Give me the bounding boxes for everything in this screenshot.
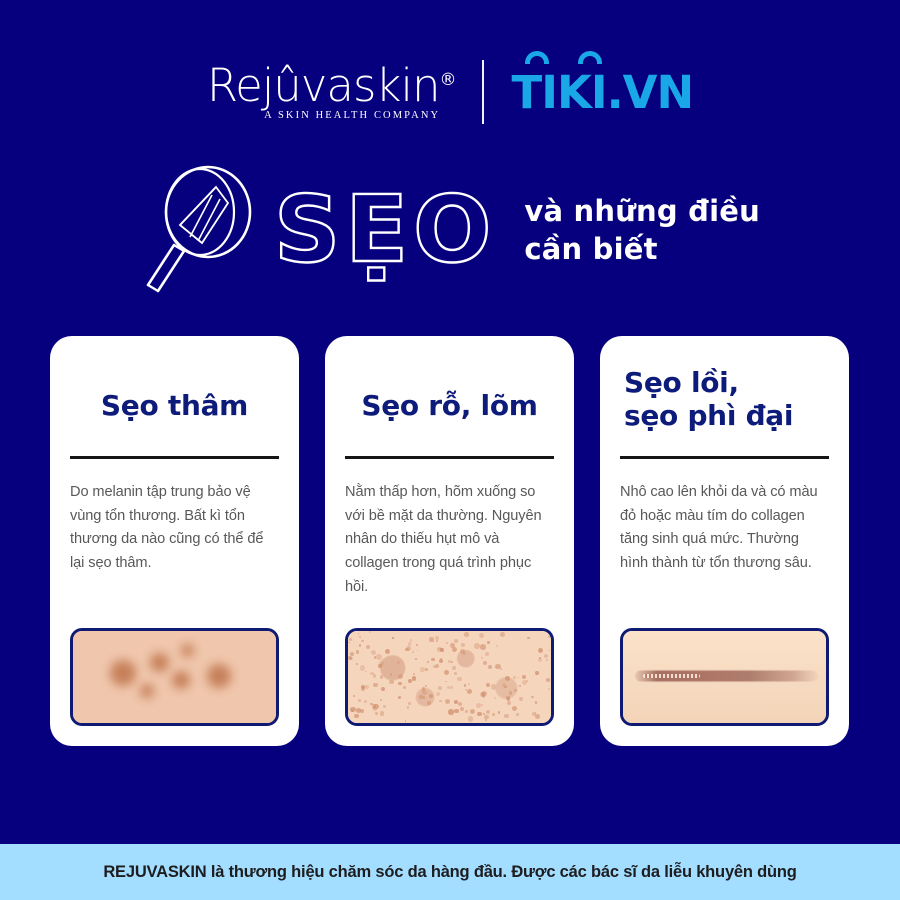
card-seo-ro-lom[interactable]: Sẹo rỗ, lõm Nằm thấp hơn, hõm xuống so v… bbox=[325, 336, 574, 746]
pore bbox=[439, 659, 443, 663]
pore bbox=[373, 683, 378, 688]
pore bbox=[383, 705, 386, 708]
infographic-page: Rejûvaskin® A SKIN HEALTH COMPANY TIKI.V… bbox=[0, 0, 900, 900]
footer-text: REJUVASKIN là thương hiệu chăm sóc da hà… bbox=[103, 863, 796, 882]
pore bbox=[474, 643, 479, 648]
pore bbox=[538, 648, 543, 653]
pore bbox=[516, 713, 519, 716]
pore bbox=[440, 648, 444, 652]
pore bbox=[463, 652, 466, 655]
tiki-arc-icon-1 bbox=[525, 51, 549, 64]
pore bbox=[380, 711, 385, 716]
pore bbox=[390, 673, 393, 676]
card-body-text: Nhô cao lên khỏi da và có màu đỏ hoặc mà… bbox=[620, 481, 829, 628]
rejuvaskin-logo: Rejûvaskin® A SKIN HEALTH COMPANY bbox=[207, 63, 482, 121]
pore bbox=[429, 637, 434, 642]
card-body-text: Do melanin tập trung bảo vệ vùng tổn thư… bbox=[70, 481, 279, 628]
pore bbox=[359, 644, 361, 646]
pore bbox=[477, 712, 482, 717]
card-title-wrap: Sẹo thâm bbox=[70, 362, 279, 450]
pore bbox=[509, 691, 512, 694]
pore bbox=[371, 650, 376, 655]
pore bbox=[458, 702, 462, 706]
pore bbox=[356, 663, 358, 665]
pore bbox=[461, 643, 465, 647]
pore bbox=[425, 685, 428, 688]
pore bbox=[392, 637, 394, 639]
title-divider bbox=[345, 456, 554, 459]
headline-subtitle: và những điều cần biết bbox=[524, 192, 760, 269]
pore bbox=[403, 686, 406, 689]
skin-surface bbox=[348, 631, 551, 723]
pore bbox=[359, 636, 361, 638]
pore bbox=[546, 659, 548, 661]
pore bbox=[373, 674, 376, 677]
pore bbox=[531, 696, 534, 699]
scar-spot bbox=[110, 660, 136, 686]
pore bbox=[470, 709, 475, 714]
skin-surface bbox=[623, 631, 826, 723]
card-title-line-1: Sẹo lồi, bbox=[624, 366, 793, 399]
pore bbox=[460, 707, 464, 711]
pore bbox=[548, 688, 551, 691]
card-title: Sẹo lồi, sẹo phì đại bbox=[620, 366, 793, 432]
pore bbox=[380, 675, 384, 679]
pore bbox=[436, 640, 438, 642]
pore bbox=[446, 642, 448, 644]
pore bbox=[487, 641, 490, 644]
pore bbox=[507, 701, 511, 705]
dark-spot-scar-photo bbox=[70, 628, 279, 726]
pore bbox=[431, 658, 435, 662]
pore bbox=[435, 636, 439, 640]
title-row: SẸO và những điều cần biết bbox=[0, 160, 900, 300]
title-divider bbox=[70, 456, 279, 459]
pore bbox=[465, 710, 468, 713]
pore bbox=[498, 711, 501, 714]
tiki-logo: TIKI.VN bbox=[484, 70, 694, 115]
pore bbox=[496, 645, 498, 647]
pore bbox=[504, 714, 509, 719]
headline-seo: SẸO bbox=[274, 184, 496, 276]
pore bbox=[518, 677, 520, 679]
scar-spot bbox=[150, 653, 169, 672]
pore bbox=[494, 697, 496, 699]
pore bbox=[427, 661, 429, 663]
pore bbox=[398, 676, 399, 677]
pore bbox=[452, 647, 457, 652]
pore bbox=[376, 654, 382, 660]
pore bbox=[522, 675, 526, 679]
pore bbox=[504, 686, 507, 689]
pore bbox=[365, 671, 367, 673]
pore bbox=[375, 712, 378, 715]
pore bbox=[454, 672, 458, 676]
pore bbox=[451, 661, 453, 663]
pore bbox=[448, 709, 453, 714]
pore bbox=[438, 686, 442, 690]
pore bbox=[483, 696, 485, 698]
magnifying-glass-icon bbox=[140, 165, 260, 295]
card-seo-tham[interactable]: Sẹo thâm Do melanin tập trung bảo vệ vùn… bbox=[50, 336, 299, 746]
pore bbox=[422, 687, 426, 691]
pore bbox=[365, 685, 369, 689]
pore bbox=[366, 645, 371, 650]
pore bbox=[464, 684, 467, 687]
pore bbox=[373, 704, 378, 709]
skin-surface bbox=[73, 631, 276, 723]
scar-spot bbox=[181, 644, 194, 657]
pore bbox=[425, 668, 428, 671]
subtitle-line-1: và những điều bbox=[524, 192, 760, 230]
pore bbox=[505, 676, 510, 681]
pore bbox=[464, 632, 469, 637]
scar-spot bbox=[140, 684, 154, 698]
pore bbox=[349, 638, 352, 641]
footer-banner: REJUVASKIN là thương hiệu chăm sóc da hà… bbox=[0, 844, 900, 900]
pore bbox=[380, 699, 382, 701]
pore bbox=[354, 714, 359, 719]
pore bbox=[527, 637, 529, 639]
pore bbox=[415, 658, 417, 660]
brand-wordmark: Rejûvaskin® bbox=[207, 63, 456, 108]
pore bbox=[408, 702, 411, 705]
pore bbox=[445, 681, 447, 683]
pore bbox=[405, 720, 407, 722]
pore bbox=[412, 651, 414, 653]
pore bbox=[356, 650, 359, 653]
pore bbox=[548, 650, 550, 652]
pore bbox=[450, 686, 453, 689]
card-title: Sẹo rỗ, lõm bbox=[361, 389, 537, 422]
pore bbox=[535, 671, 539, 675]
title-divider bbox=[620, 456, 829, 459]
pore bbox=[454, 709, 458, 713]
pore bbox=[468, 716, 473, 721]
pore bbox=[485, 652, 489, 656]
pore bbox=[398, 696, 401, 699]
pore bbox=[417, 650, 419, 652]
pore bbox=[514, 689, 517, 692]
pore bbox=[378, 664, 383, 669]
registered-trademark-icon: ® bbox=[440, 70, 456, 90]
pore bbox=[535, 714, 540, 719]
pore bbox=[350, 657, 353, 660]
pore bbox=[492, 713, 495, 716]
raised-scar-highlight bbox=[643, 674, 700, 678]
pore bbox=[410, 639, 413, 642]
card-title: Sẹo thâm bbox=[101, 389, 248, 422]
pore bbox=[444, 670, 449, 675]
pore bbox=[445, 699, 451, 705]
pore bbox=[452, 666, 456, 670]
pitted-atrophic-scar-photo bbox=[345, 628, 554, 726]
pore bbox=[407, 706, 410, 709]
keloid-hypertrophic-scar-photo bbox=[620, 628, 829, 726]
pore bbox=[513, 676, 516, 679]
scar-spot bbox=[172, 671, 190, 689]
card-title-wrap: Sẹo lồi, sẹo phì đại bbox=[620, 362, 829, 450]
pore bbox=[519, 697, 523, 701]
pore bbox=[486, 683, 490, 687]
pore bbox=[488, 665, 492, 669]
pore bbox=[519, 685, 521, 687]
subtitle-line-2: cần biết bbox=[524, 230, 760, 268]
card-seo-loi-phi-dai[interactable]: Sẹo lồi, sẹo phì đại Nhô cao lên khỏi da… bbox=[600, 336, 849, 746]
pore bbox=[361, 640, 363, 642]
pore bbox=[369, 631, 371, 633]
scar-type-card-list: Sẹo thâm Do melanin tập trung bảo vệ vùn… bbox=[50, 336, 850, 746]
pore bbox=[486, 710, 490, 714]
pore bbox=[454, 639, 458, 643]
pore bbox=[413, 673, 415, 675]
logo-bar: Rejûvaskin® A SKIN HEALTH COMPANY TIKI.V… bbox=[0, 42, 900, 142]
pore bbox=[439, 700, 441, 702]
pore bbox=[433, 665, 436, 668]
tiki-arc-icon-2 bbox=[578, 51, 602, 64]
pore bbox=[548, 635, 551, 638]
pore bbox=[481, 657, 483, 659]
pore bbox=[457, 677, 462, 682]
pore bbox=[485, 719, 487, 721]
pore bbox=[397, 661, 399, 663]
tiki-wordmark-text: TIKI.VN bbox=[512, 66, 694, 119]
pore bbox=[535, 701, 538, 704]
pore bbox=[353, 695, 355, 697]
pore bbox=[358, 633, 360, 635]
pore bbox=[350, 652, 354, 656]
pore bbox=[416, 644, 418, 646]
pore bbox=[476, 703, 481, 708]
pore bbox=[406, 646, 411, 651]
scar-spot bbox=[207, 664, 231, 688]
pore bbox=[420, 667, 424, 671]
pore bbox=[381, 687, 385, 691]
pore bbox=[408, 642, 412, 646]
pore bbox=[546, 678, 550, 682]
pore bbox=[479, 633, 484, 638]
pore bbox=[481, 704, 483, 706]
pore bbox=[423, 696, 426, 699]
brand-name-text: Rejûvaskin bbox=[207, 59, 440, 112]
card-title-line-2: sẹo phì đại bbox=[624, 399, 793, 432]
pore bbox=[500, 668, 501, 669]
pore bbox=[398, 682, 402, 686]
pore bbox=[412, 676, 416, 680]
pore bbox=[483, 661, 487, 665]
pore bbox=[491, 684, 497, 690]
card-title-wrap: Sẹo rỗ, lõm bbox=[345, 362, 554, 450]
pore bbox=[436, 692, 440, 696]
pore bbox=[512, 706, 517, 711]
pore bbox=[480, 644, 486, 650]
pore bbox=[484, 715, 489, 720]
pore-texture bbox=[348, 631, 551, 723]
pore bbox=[429, 694, 433, 698]
pore bbox=[358, 699, 360, 701]
card-body-text: Nằm thấp hơn, hõm xuống so với bề mặt da… bbox=[345, 481, 554, 628]
pore bbox=[467, 689, 472, 694]
pore bbox=[544, 654, 548, 658]
pore bbox=[427, 701, 431, 705]
pore bbox=[500, 632, 506, 638]
pore bbox=[364, 700, 367, 703]
pore bbox=[468, 683, 470, 685]
pore bbox=[389, 680, 394, 685]
pore bbox=[385, 649, 390, 654]
pore bbox=[348, 642, 350, 644]
